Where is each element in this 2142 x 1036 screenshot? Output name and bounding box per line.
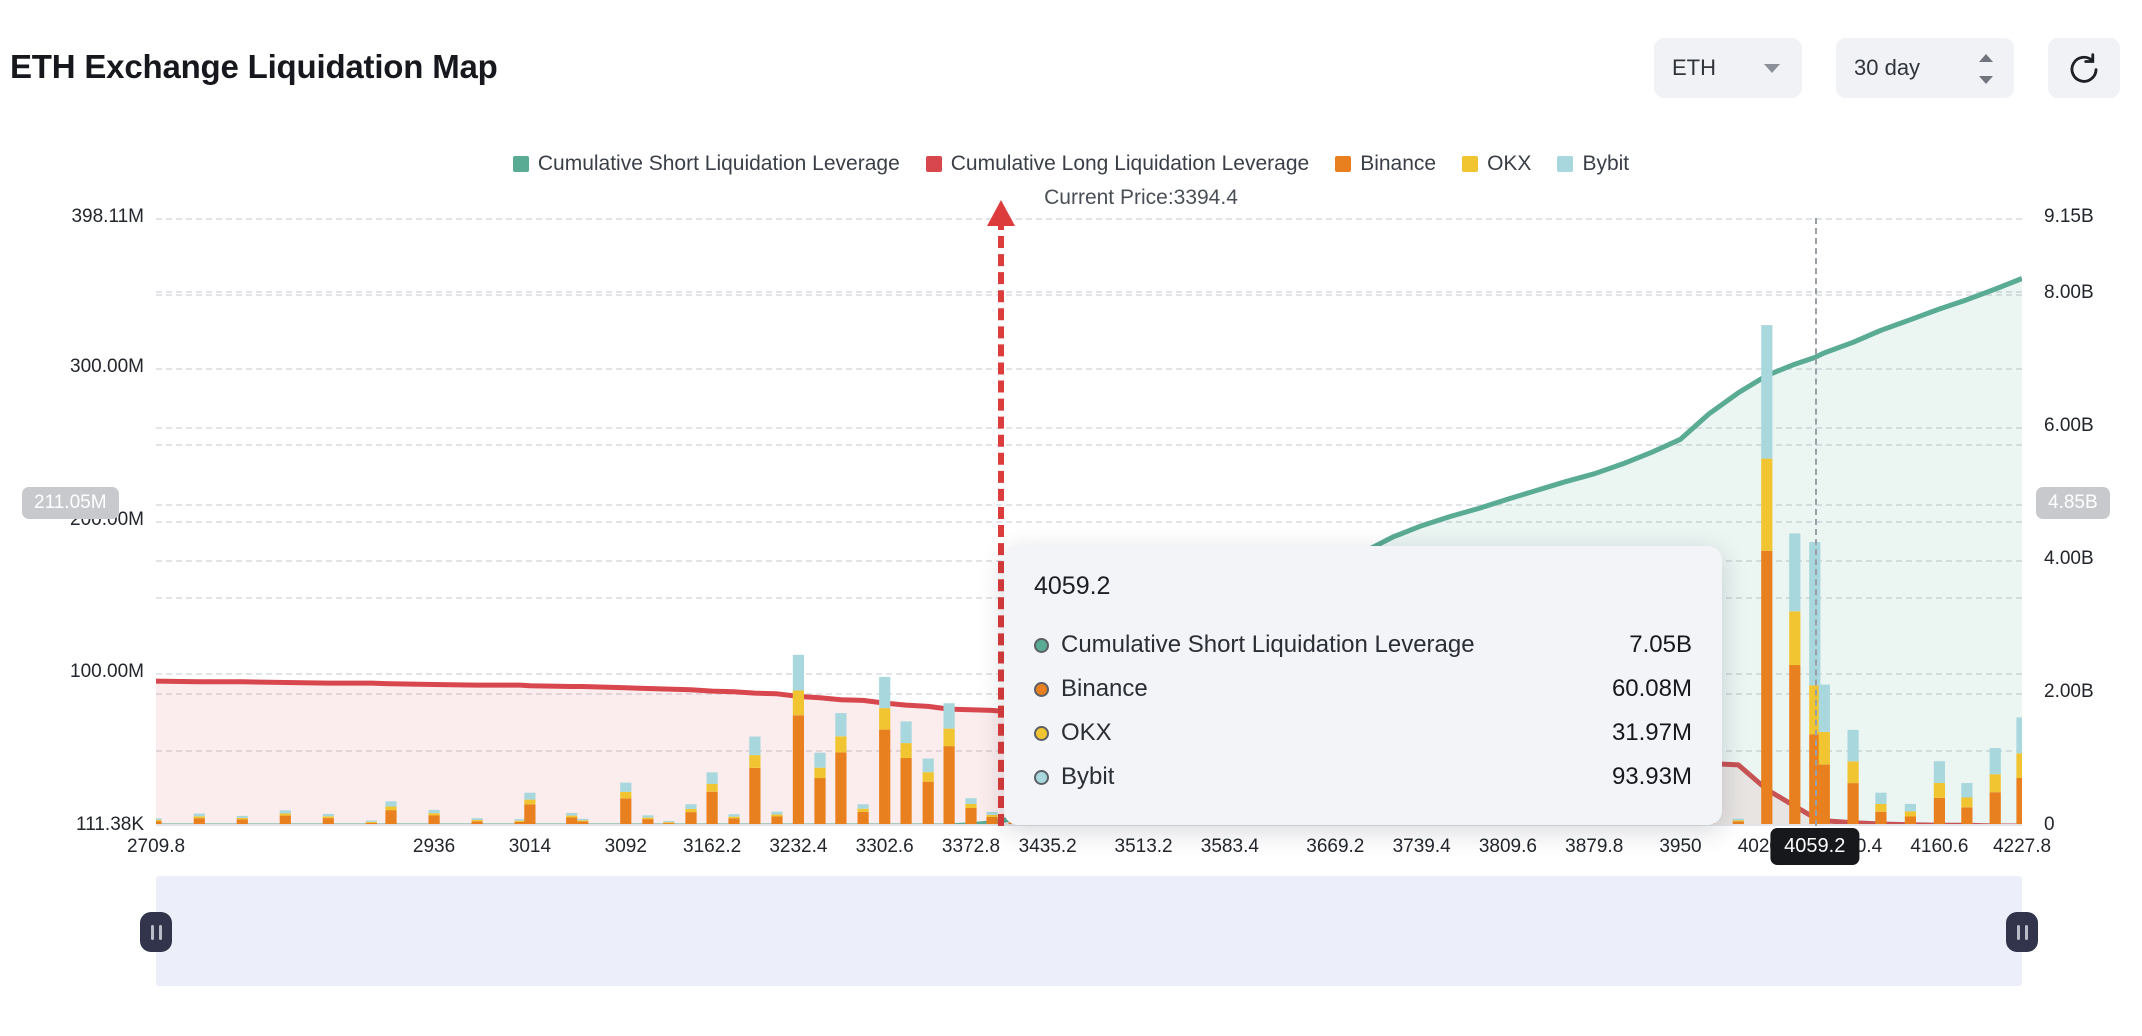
bar-segment <box>515 819 526 821</box>
y-axis-left-tick: 300.00M <box>0 356 144 378</box>
x-axis-tick: 3809.6 <box>1479 836 1537 858</box>
bar-segment <box>620 783 631 792</box>
bar-segment <box>156 818 162 820</box>
bar-segment <box>385 801 396 806</box>
y-axis-right-tick: 2.00B <box>2044 681 2094 703</box>
tooltip-row-value: 31.97M <box>1612 719 1692 747</box>
bar-segment <box>1733 820 1744 821</box>
bar-segment <box>385 807 396 811</box>
y-axis-right-tick: 9.15B <box>2044 206 2094 228</box>
bar-segment <box>1905 811 1916 816</box>
bar-segment <box>835 752 846 826</box>
bar-segment <box>707 772 718 784</box>
x-axis-tick: 4227.8 <box>1993 836 2051 858</box>
x-axis-tick: 3950 <box>1659 836 1701 858</box>
x-axis-tick: 3513.2 <box>1115 836 1173 858</box>
bar-segment <box>472 820 483 821</box>
bar-segment <box>1905 804 1916 812</box>
x-axis-tick: 2709.8 <box>127 836 185 858</box>
bar-segment <box>685 804 696 809</box>
bar-segment <box>1733 819 1744 821</box>
bar-segment <box>814 768 825 778</box>
range-brush[interactable] <box>156 876 2022 986</box>
legend-swatch-icon <box>1335 156 1351 172</box>
bar-segment <box>901 758 912 826</box>
bar-segment <box>1789 665 1800 826</box>
tooltip-row: Cumulative Short Liquidation Leverage 7.… <box>1034 623 1692 667</box>
bar-segment <box>429 813 440 815</box>
tooltip-row-value: 93.93M <box>1612 763 1692 791</box>
bar-segment <box>793 691 804 716</box>
bar-segment <box>1934 798 1945 826</box>
page-title: ETH Exchange Liquidation Map <box>10 48 498 86</box>
bar-segment <box>749 737 760 756</box>
refresh-button[interactable] <box>2048 38 2120 98</box>
bar-segment <box>323 816 334 818</box>
bar-segment <box>194 814 205 817</box>
x-axis-tick: 4160.6 <box>1910 836 1968 858</box>
stepper-up-icon[interactable] <box>1979 54 1993 62</box>
bar-segment <box>1761 459 1772 551</box>
brush-handle-left[interactable] <box>140 912 172 952</box>
stepper-down-icon[interactable] <box>1979 76 1993 84</box>
bar-segment <box>1990 774 2001 792</box>
bar-segment <box>642 818 653 820</box>
hover-crosshair-line <box>1815 218 1817 826</box>
bar-segment <box>771 812 782 815</box>
x-axis-tick: 3372.8 <box>942 836 1000 858</box>
bar-segment <box>1848 730 1859 762</box>
bar-segment <box>566 816 577 818</box>
tooltip-row-value: 7.05B <box>1629 631 1692 659</box>
bar-segment <box>707 784 718 792</box>
bar-segment <box>2016 778 2022 826</box>
bar-segment <box>156 820 162 821</box>
bar-segment <box>685 809 696 812</box>
bar-segment <box>1761 325 1772 459</box>
x-axis-tick: 3435.2 <box>1019 836 1077 858</box>
bar-segment <box>2016 717 2022 753</box>
bar-segment <box>620 798 631 826</box>
bar-segment <box>2016 753 2022 778</box>
legend-swatch-icon <box>1557 156 1573 172</box>
bar-segment <box>879 677 890 708</box>
tooltip-row-value: 60.08M <box>1612 675 1692 703</box>
legend-item-bybit[interactable]: Bybit <box>1557 152 1629 176</box>
bar-segment <box>524 804 535 826</box>
x-axis-tick: 3879.8 <box>1565 836 1623 858</box>
x-axis-tick: 3739.4 <box>1393 836 1451 858</box>
bar-segment <box>366 822 377 823</box>
bar-segment <box>923 782 934 826</box>
tooltip-row: Bybit 93.93M <box>1034 755 1692 799</box>
bar-segment <box>1990 792 2001 826</box>
bar-segment <box>749 768 760 826</box>
bar-segment <box>987 812 998 815</box>
x-axis-tick: 3669.2 <box>1306 836 1364 858</box>
tooltip-row: Binance 60.08M <box>1034 667 1692 711</box>
bar-segment <box>944 746 955 826</box>
liquidation-map-page: ETH Exchange Liquidation Map ETH 30 day <box>0 0 2142 1036</box>
current-price-arrow-icon <box>987 200 1015 226</box>
bar-segment <box>237 816 248 818</box>
bar-segment <box>280 810 291 813</box>
bar-segment <box>577 819 588 821</box>
time-range-select[interactable]: 30 day <box>1836 38 2014 98</box>
legend-swatch-icon <box>513 156 529 172</box>
bar-segment <box>237 818 248 819</box>
page-header: ETH Exchange Liquidation Map ETH 30 day <box>0 0 2142 115</box>
bar-segment <box>901 743 912 758</box>
current-price-label: Current Price:3394.4 <box>0 186 2142 210</box>
bar-segment <box>1761 551 1772 826</box>
grip-bar-icon <box>151 925 154 940</box>
bar-segment <box>323 814 334 816</box>
tooltip-title: 4059.2 <box>1034 572 1692 601</box>
y-axis-right-tick: 4.00B <box>2044 548 2094 570</box>
y-axis-right-tick: 0 <box>2044 814 2055 836</box>
bar-segment <box>771 815 782 817</box>
bar-segment <box>194 816 205 818</box>
y-axis-right-tick: 8.00B <box>2044 282 2094 304</box>
bar-segment <box>793 715 804 826</box>
chart-legend: Cumulative Short Liquidation Leverage Cu… <box>0 152 2142 176</box>
bar-segment <box>1789 533 1800 611</box>
bar-segment <box>858 804 869 808</box>
bar-segment <box>515 821 526 822</box>
bar-segment <box>1819 765 1830 826</box>
brush-handle-right[interactable] <box>2006 912 2038 952</box>
bar-segment <box>965 804 976 808</box>
symbol-select-value: ETH <box>1672 55 1716 81</box>
series-dot-icon <box>1034 638 1049 653</box>
tooltip-row-name: Binance <box>1061 675 1148 703</box>
legend-label: Cumulative Short Liquidation Leverage <box>538 152 900 176</box>
x-axis-tick: 3162.2 <box>683 836 741 858</box>
bar-segment <box>835 736 846 752</box>
bar-segment <box>879 730 890 826</box>
chevron-down-icon <box>1764 64 1780 73</box>
bar-segment <box>728 814 739 816</box>
x-axis-tick: 3014 <box>509 836 551 858</box>
bar-segment <box>944 703 955 728</box>
header-controls: ETH 30 day <box>1654 38 2120 98</box>
bar-segment <box>1934 783 1945 798</box>
y-axis-right-hover-badge: 4.85B <box>2036 487 2110 519</box>
bar-segment <box>944 729 955 747</box>
legend-label: Bybit <box>1582 152 1629 176</box>
bar-segment <box>1961 797 1972 807</box>
bar-segment <box>793 655 804 691</box>
legend-swatch-icon <box>926 156 942 172</box>
bar-segment <box>566 813 577 816</box>
x-axis-tick: 2936 <box>413 836 455 858</box>
refresh-icon <box>2067 51 2101 85</box>
tooltip-row-name: Cumulative Short Liquidation Leverage <box>1061 631 1475 659</box>
bar-segment <box>814 753 825 768</box>
legend-label: OKX <box>1487 152 1531 176</box>
bar-segment <box>749 755 760 768</box>
bar-segment <box>923 759 934 773</box>
legend-label: Cumulative Long Liquidation Leverage <box>951 152 1309 176</box>
bar-segment <box>707 792 718 826</box>
bar-segment <box>1848 761 1859 783</box>
bar-segment <box>663 821 674 822</box>
bar-segment <box>280 814 291 816</box>
bar-segment <box>879 708 890 730</box>
legend-item-cumulative-short[interactable]: Cumulative Short Liquidation Leverage <box>513 152 900 176</box>
legend-item-cumulative-long[interactable]: Cumulative Long Liquidation Leverage <box>926 152 1309 176</box>
legend-item-okx[interactable]: OKX <box>1462 152 1531 176</box>
bar-segment <box>620 792 631 798</box>
tooltip-row-name: OKX <box>1061 719 1112 747</box>
y-axis-left-tick: 398.11M <box>0 206 144 228</box>
bar-segment <box>1990 748 2001 774</box>
bar-segment <box>858 809 869 812</box>
bar-segment <box>642 815 653 817</box>
bar-segment <box>1848 783 1859 826</box>
bar-segment <box>1819 685 1830 732</box>
series-dot-icon <box>1034 770 1049 785</box>
bar-segment <box>524 793 535 800</box>
bar-segment <box>472 818 483 820</box>
bar-segment <box>1875 793 1886 804</box>
bar-segment <box>1875 804 1886 812</box>
bar-segment <box>1789 611 1800 665</box>
legend-swatch-icon <box>1462 156 1478 172</box>
y-axis-left-hover-badge: 211.05M <box>22 487 119 519</box>
bar-segment <box>429 810 440 813</box>
symbol-select[interactable]: ETH <box>1654 38 1802 98</box>
bar-segment <box>524 800 535 805</box>
legend-item-binance[interactable]: Binance <box>1335 152 1436 176</box>
grip-bar-icon <box>2017 925 2020 940</box>
bar-segment <box>1819 732 1830 765</box>
x-axis-hover-badge: 4059.2 <box>1770 828 1859 865</box>
series-dot-icon <box>1034 726 1049 741</box>
x-axis-tick: 3092 <box>605 836 647 858</box>
tooltip-row: OKX 31.97M <box>1034 711 1692 755</box>
bar-segment <box>965 798 976 804</box>
time-range-value: 30 day <box>1854 55 1920 81</box>
bar-segment <box>1934 761 1945 783</box>
grip-bar-icon <box>159 925 162 940</box>
y-axis-left-tick: 111.38K <box>0 814 144 836</box>
current-price-line <box>998 218 1004 826</box>
bar-segment <box>835 713 846 736</box>
grip-bar-icon <box>2025 925 2028 940</box>
bar-segment <box>577 820 588 821</box>
bar-segment <box>814 778 825 826</box>
bar-segment <box>923 772 934 782</box>
legend-label: Binance <box>1360 152 1436 176</box>
series-dot-icon <box>1034 682 1049 697</box>
bar-segment <box>728 817 739 819</box>
bar-segment <box>366 821 377 822</box>
x-axis: 2709.82936301430923162.23232.43302.63372… <box>156 836 2022 870</box>
bar-segment <box>1961 783 1972 797</box>
x-axis-tick: 3583.4 <box>1201 836 1259 858</box>
bar-segment <box>901 721 912 743</box>
x-axis-tick: 3232.4 <box>769 836 827 858</box>
x-axis-tick: 3302.6 <box>856 836 914 858</box>
bar-segment <box>987 815 998 817</box>
tooltip-row-name: Bybit <box>1061 763 1114 791</box>
y-axis-right-tick: 6.00B <box>2044 415 2094 437</box>
hover-tooltip: 4059.2 Cumulative Short Liquidation Leve… <box>1004 546 1722 825</box>
y-axis-left-tick: 100.00M <box>0 661 144 683</box>
stepper-icon[interactable] <box>1978 54 1994 84</box>
